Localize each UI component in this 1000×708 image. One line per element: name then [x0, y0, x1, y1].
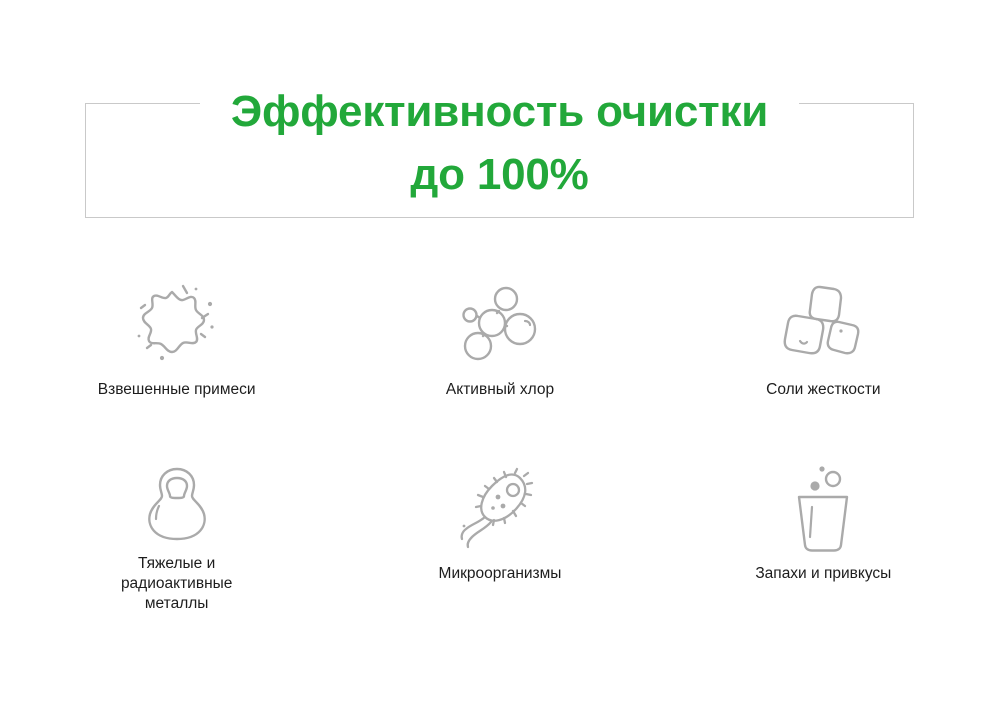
feature-label: Соли жесткости	[766, 380, 880, 400]
feature-item-odours-tastes: Запахи и привкусы	[662, 466, 985, 588]
feature-item-active-chlorine: Активный хлор	[338, 282, 661, 404]
feature-label: Микроорганизмы	[439, 564, 562, 584]
feature-label: Запахи и привкусы	[755, 564, 891, 584]
features-grid: Взвешенные примеси Активный хлор	[15, 282, 985, 588]
feature-item-hardness-salts: Соли жесткости	[662, 282, 985, 404]
feature-item-microorganisms: Микроорганизмы	[338, 466, 661, 588]
kettlebell-weight-icon	[145, 466, 209, 542]
glass-with-bubbles-icon	[788, 466, 858, 552]
feature-item-suspended-impurities: Взвешенные примеси	[15, 282, 338, 404]
salt-crystals-icon	[782, 282, 864, 364]
feature-label: Тяжелые и радиоактивные металлы	[121, 554, 232, 614]
page-title: Эффективность очистки до 100%	[85, 80, 914, 206]
feature-label: Взвешенные примеси	[98, 380, 256, 400]
headline-banner: Эффективность очистки до 100%	[85, 103, 914, 218]
feature-item-heavy-metals: Тяжелые и радиоактивные металлы	[15, 466, 338, 588]
feature-label: Активный хлор	[446, 380, 554, 400]
bubbles-molecule-icon	[458, 282, 542, 364]
splatter-blob-icon	[134, 282, 220, 364]
bacteria-microbe-icon	[458, 466, 542, 552]
